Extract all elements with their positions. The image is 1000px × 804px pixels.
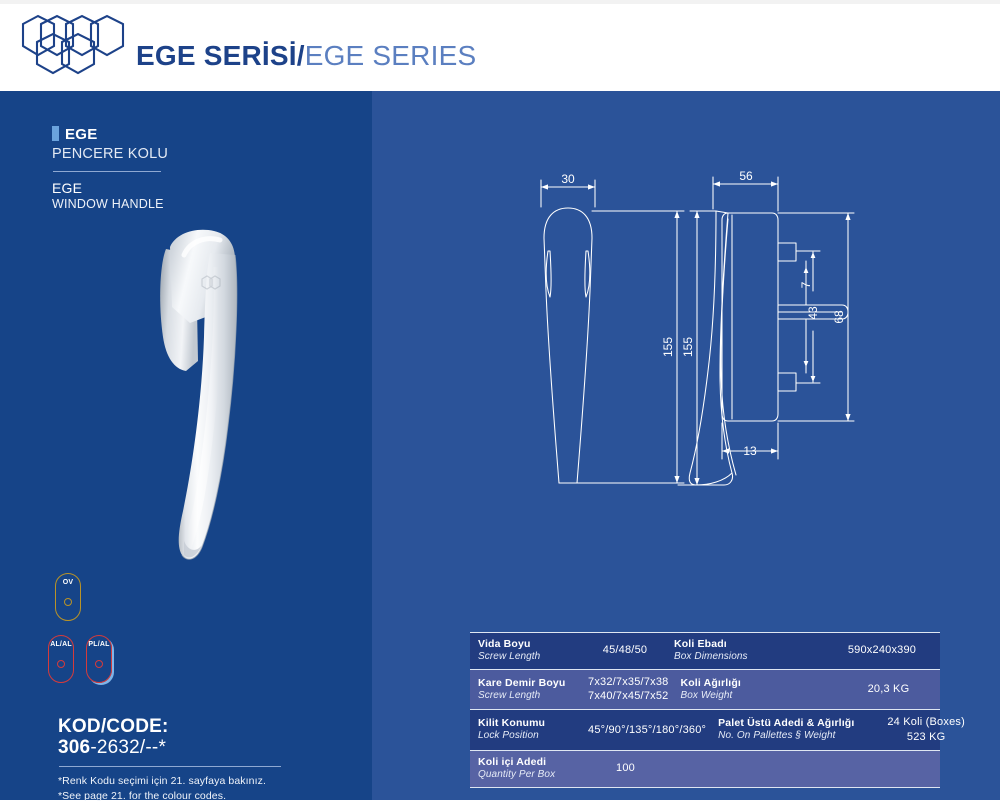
spec-label-kilit-konumu: Kilit Konumu Lock Position <box>470 710 588 750</box>
spec-value-kilit-konumu: 45°/90°/135°/180°/360° <box>588 710 710 750</box>
title-divider <box>53 171 161 172</box>
spec-label-koli-ici-adedi: Koli içi Adedi Quantity Per Box <box>470 751 588 787</box>
colour-badge-al-al-label: AL/AL <box>49 641 73 648</box>
code-divider <box>59 766 281 767</box>
spec-label-koli-agirligi: Koli Ağırlığı Box Weight <box>672 670 822 710</box>
spec-label-tr: Koli Ağırlığı <box>680 677 740 690</box>
dim-side-height: 155 <box>681 337 695 357</box>
page-title: EGE SERİSİ/EGE SERIES <box>136 40 476 72</box>
colour-badge-al-al[interactable]: AL/AL <box>48 635 74 683</box>
spec-value-empty <box>816 751 940 787</box>
spec-label-tr: Vida Boyu <box>478 638 540 651</box>
spec-label-en: Lock Position <box>478 730 545 743</box>
colour-badge-pl-al-label: PL/AL <box>87 641 111 648</box>
spec-label-tr: Kilit Konumu <box>478 717 545 730</box>
spec-label-tr: Koli içi Adedi <box>478 756 555 769</box>
spec-label-en: Box Dimensions <box>674 651 748 664</box>
spec-label-empty <box>666 751 816 787</box>
product-code-label: KOD/CODE: <box>58 716 318 738</box>
header-top-rule <box>0 0 1000 4</box>
spec-label-en: No. On Pallettes § Weight <box>718 730 854 743</box>
colour-badge-ov-label: OV <box>56 579 80 586</box>
specification-table: Vida Boyu Screw Length 45/48/50 Koli Eba… <box>470 632 940 788</box>
spec-value-koli-ebadi: 590x240x390 <box>816 633 940 669</box>
table-row: Koli içi Adedi Quantity Per Box 100 <box>470 750 940 788</box>
spec-label-tr: Koli Ebadı <box>674 638 748 651</box>
dim-spindle-span: 43 <box>806 306 820 320</box>
technical-drawings: 30 56 13 155 155 7 43 68 <box>372 91 1000 511</box>
accent-bar-icon <box>52 126 59 141</box>
colour-note-tr: *Renk Kodu seçimi için 21. sayfaya bakın… <box>58 774 318 789</box>
product-title-block: EGE PENCERE KOLU EGE WINDOW HANDLE <box>52 126 302 211</box>
colour-badge-al-al-dot-icon <box>57 660 65 668</box>
spec-label-en: Screw Length <box>478 690 565 703</box>
product-code-value: 306-2632/--* <box>58 737 318 759</box>
table-row: Vida Boyu Screw Length 45/48/50 Koli Eba… <box>470 632 940 669</box>
spec-label-koli-ebadi: Koli Ebadı Box Dimensions <box>666 633 816 669</box>
spec-label-en: Box Weight <box>680 690 740 703</box>
spec-label-en: Quantity Per Box <box>478 769 555 782</box>
dim-front-width: 30 <box>561 172 575 186</box>
page-header: EGE SERİSİ/EGE SERIES <box>0 0 1000 91</box>
product-name-en: EGE <box>52 180 302 196</box>
dim-front-height: 155 <box>661 337 675 357</box>
spec-value-palet-ustu: 24 Koli (Boxes)523 KG <box>860 710 984 750</box>
spec-value-koli-ici-adedi: 100 <box>588 751 666 787</box>
spec-label-vida-boyu: Vida Boyu Screw Length <box>470 633 588 669</box>
w-hexagon-logo <box>14 12 134 80</box>
colour-badge-ov[interactable]: OV <box>55 573 81 621</box>
table-row: Kilit Konumu Lock Position 45°/90°/135°/… <box>470 709 940 750</box>
table-row: Kare Demir Boyu Screw Length 7x32/7x35/7… <box>470 669 940 710</box>
spec-label-en: Screw Length <box>478 651 540 664</box>
colour-badge-pl-al[interactable]: PL/AL <box>86 635 112 683</box>
dim-plate-thickness: 13 <box>743 444 757 458</box>
product-name-tr-line: EGE <box>52 126 302 144</box>
spec-label-tr: Kare Demir Boyu <box>478 677 565 690</box>
product-photo-window-handle <box>140 211 270 571</box>
page-body: EGE PENCERE KOLU EGE WINDOW HANDLE <box>0 91 1000 800</box>
colour-badge-pl-al-dot-icon <box>95 660 103 668</box>
dim-spindle-width: 7 <box>799 281 813 288</box>
spec-value-koli-agirligi: 20,3 KG <box>822 670 946 710</box>
spec-label-tr: Palet Üstü Adedi & Ağırlığı <box>718 717 854 730</box>
page-title-en: EGE SERIES <box>305 40 477 71</box>
spec-label-palet-ustu: Palet Üstü Adedi & Ağırlığı No. On Palle… <box>710 710 860 750</box>
product-code-block: KOD/CODE: 306-2632/--* *Renk Kodu seçimi… <box>58 716 318 804</box>
product-subtitle-en: WINDOW HANDLE <box>52 197 302 211</box>
page-title-tr: EGE SERİSİ/ <box>136 40 305 71</box>
product-subtitle-tr: PENCERE KOLU <box>52 146 302 162</box>
colour-code-badges: OV AL/AL PL/AL <box>48 573 168 683</box>
spec-label-kare-demir-boyu: Kare Demir Boyu Screw Length <box>470 670 588 710</box>
colour-badge-ov-dot-icon <box>64 598 72 606</box>
product-code-suffix: -2632/--* <box>90 737 166 758</box>
product-name-tr: EGE <box>65 126 98 143</box>
spec-value-vida-boyu: 45/48/50 <box>588 633 666 669</box>
dim-side-depth: 56 <box>739 169 753 183</box>
spec-value-kare-demir-boyu: 7x32/7x35/7x387x40/7x45/7x52 <box>588 670 672 710</box>
product-code-prefix: 306 <box>58 737 90 758</box>
colour-note-en: *See page 21. for the colour codes. <box>58 789 318 804</box>
dim-plate-height: 68 <box>832 310 846 324</box>
